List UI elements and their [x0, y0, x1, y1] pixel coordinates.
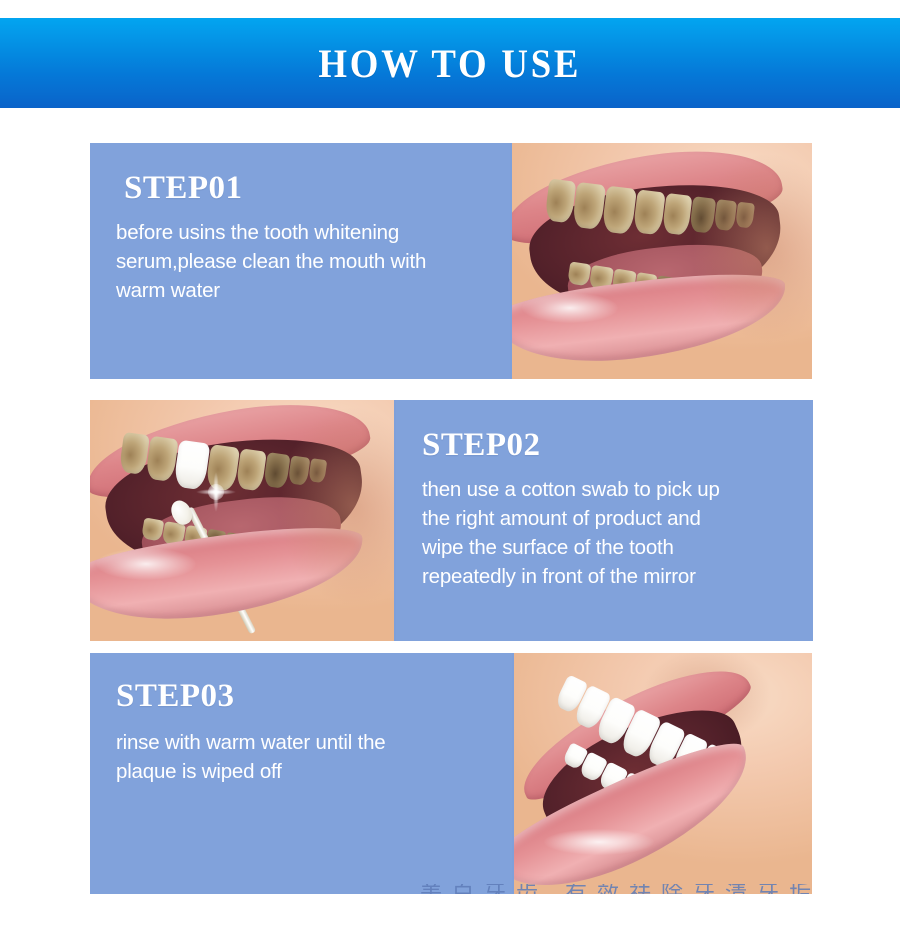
- step-1-body-line-2: serum,please clean the mouth with: [116, 247, 506, 276]
- step-2-heading: STEP02: [422, 428, 813, 463]
- step-1-text-block: STEP01 before usins the tooth whitening …: [90, 143, 510, 379]
- step-3-body-line-1: rinse with warm water until the: [116, 728, 506, 757]
- step-2-body-line-4: repeatedly in front of the mirror: [422, 562, 812, 591]
- step-2-photo-swab-application: [90, 400, 396, 641]
- step-1-body-line-3: warm water: [116, 276, 506, 305]
- step-3-body-line-2: plaque is wiped off: [116, 757, 506, 786]
- step-3-body: rinse with warm water until the plaque i…: [116, 728, 506, 786]
- step-3-heading: STEP03: [116, 679, 512, 714]
- step-1-photo-stained-teeth: [510, 143, 812, 379]
- step-panel-1: STEP01 before usins the tooth whitening …: [90, 143, 812, 379]
- step-2-body-line-3: wipe the surface of the tooth: [422, 533, 812, 562]
- step-3-text-block: STEP03 rinse with warm water until the p…: [90, 653, 512, 894]
- header-banner: HOW TO USE: [0, 18, 900, 108]
- step-panel-2: STEP02 then use a cotton swab to pick up…: [90, 400, 813, 641]
- step-2-body: then use a cotton swab to pick up the ri…: [422, 475, 812, 591]
- step-2-body-line-1: then use a cotton swab to pick up: [422, 475, 812, 504]
- step-2-body-line-2: the right amount of product and: [422, 504, 812, 533]
- whitened-tooth: [173, 440, 210, 491]
- step-3-photo-white-smile: [512, 653, 812, 894]
- bottom-caption-text: 美白牙齿 有效祛除牙渍牙垢 亮白: [420, 884, 812, 894]
- step-panel-3: STEP03 rinse with warm water until the p…: [90, 653, 812, 894]
- page-title: HOW TO USE: [319, 40, 582, 87]
- step-1-heading: STEP01: [124, 171, 510, 206]
- step-2-text-block: STEP02 then use a cotton swab to pick up…: [396, 400, 813, 641]
- step-1-body: before usins the tooth whitening serum,p…: [116, 218, 506, 305]
- step-1-body-line-1: before usins the tooth whitening: [116, 218, 506, 247]
- bottom-caption-cropped: 美白牙齿 有效祛除牙渍牙垢 亮白: [90, 884, 812, 894]
